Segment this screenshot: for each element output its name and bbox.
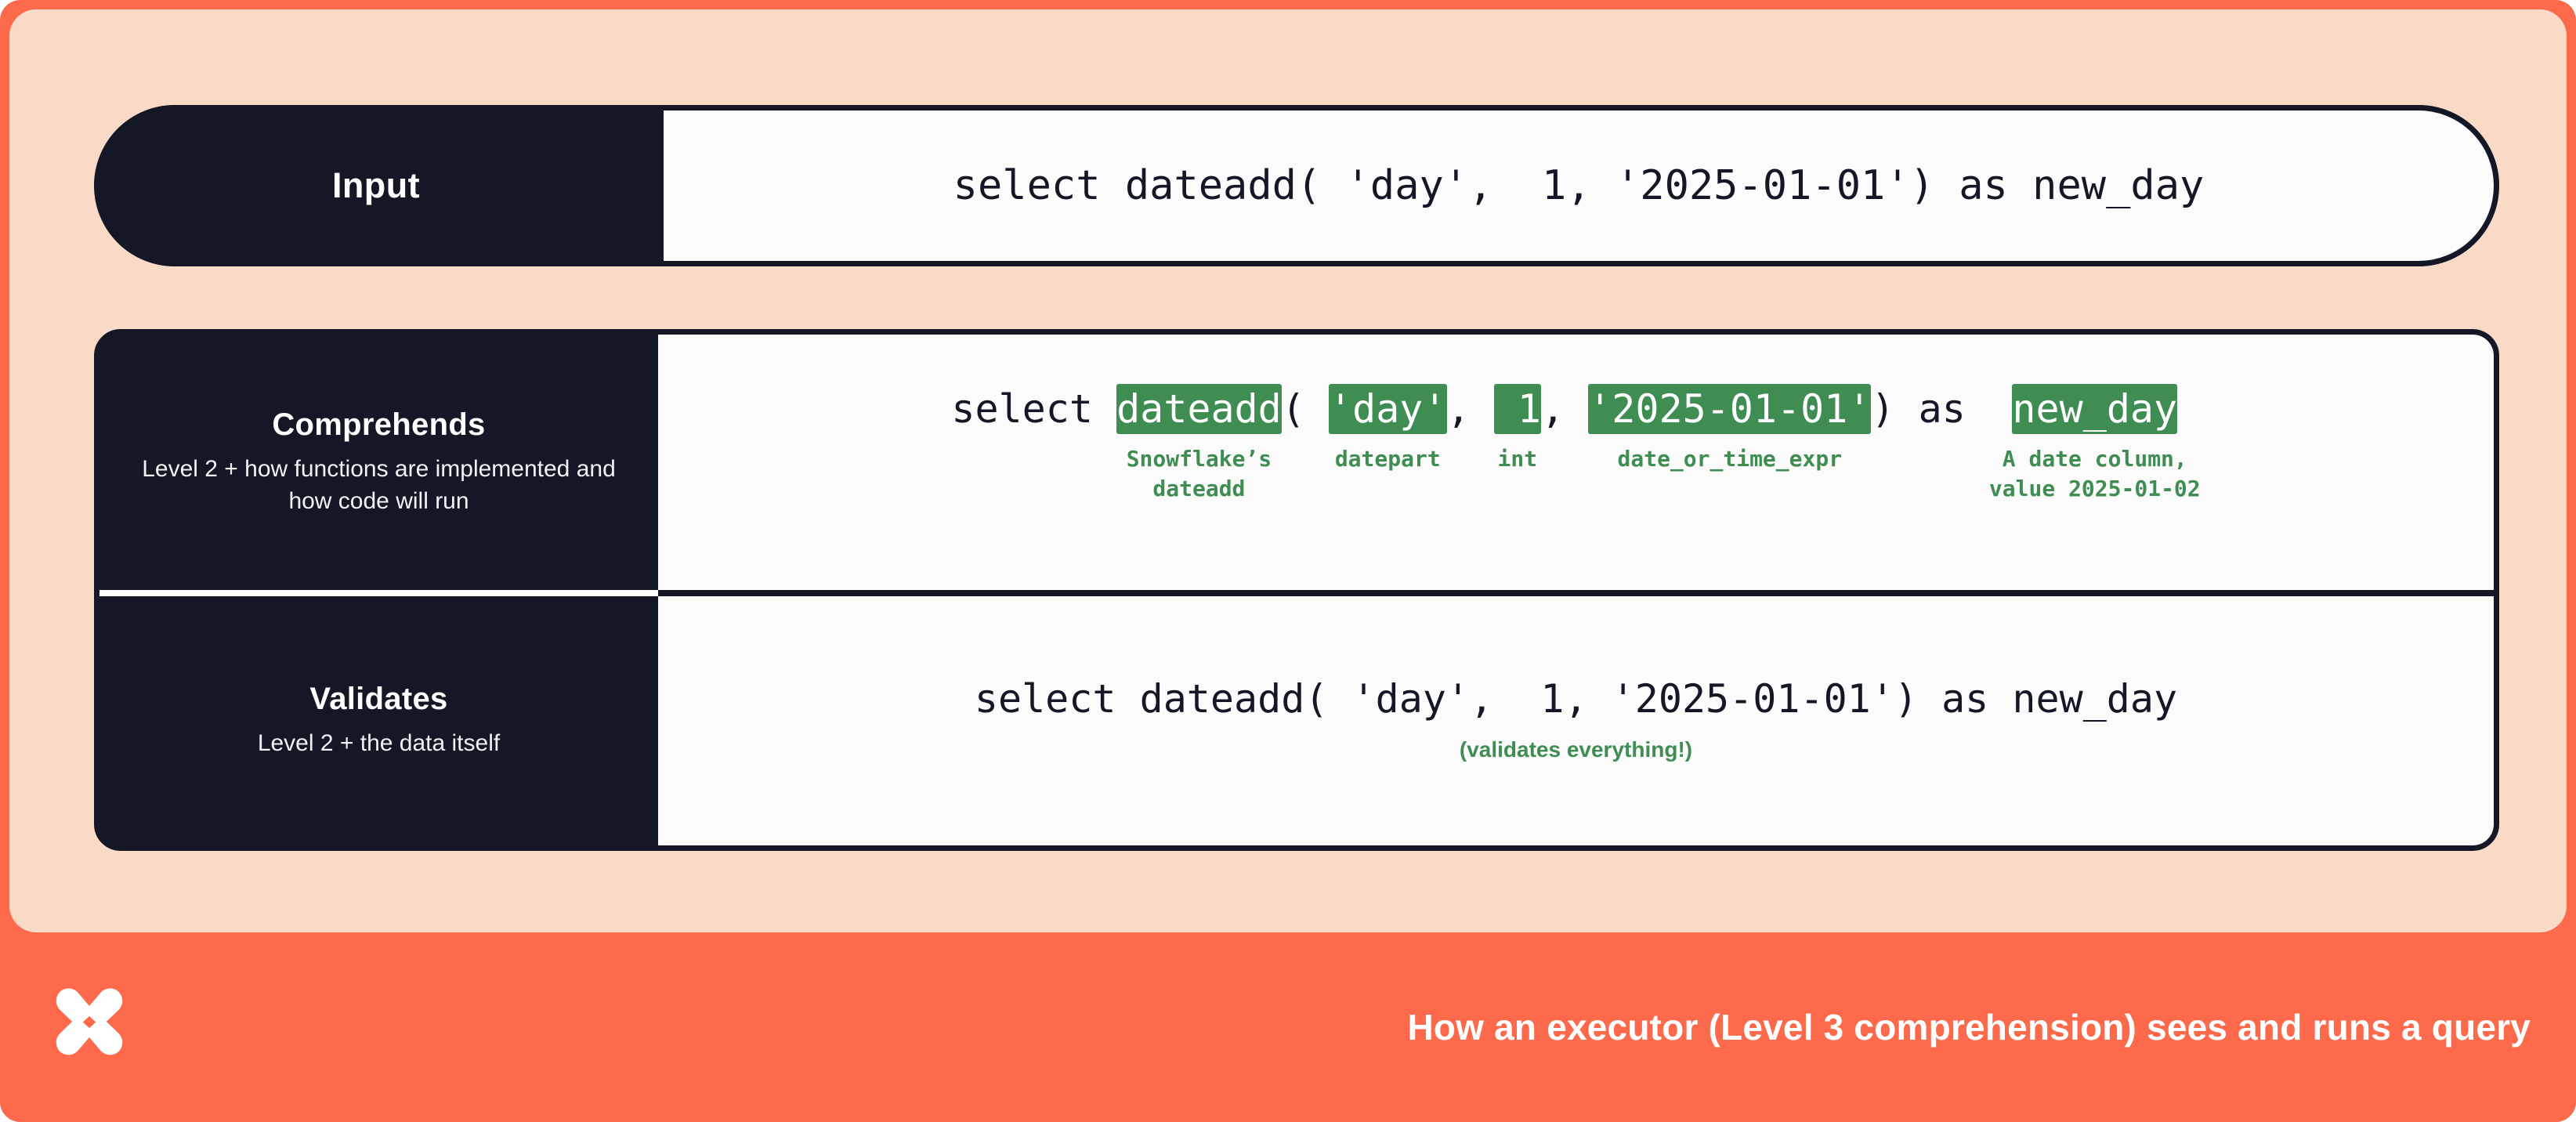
validates-row-subtitle: Level 2 + the data itself bbox=[258, 728, 500, 760]
code-token-text: dateadd bbox=[1116, 384, 1282, 434]
validates-note: (validates everything!) bbox=[1460, 737, 1692, 762]
comprehends-row-subtitle: Level 2 + how functions are implemented … bbox=[136, 454, 622, 517]
validates-code-text: select dateadd( 'day', 1, '2025-01-01') … bbox=[975, 679, 2177, 718]
annotated-code-line: select dateaddSnowflake’s dateadd( 'day'… bbox=[951, 384, 2200, 502]
footer-band: How an executor (Level 3 comprehension) … bbox=[0, 932, 2576, 1122]
input-row: Input select dateadd( 'day', 1, '2025-01… bbox=[94, 105, 2499, 266]
code-token-annotation: Snowflake’s dateadd bbox=[1127, 444, 1272, 502]
code-token-annotation: datepart bbox=[1335, 444, 1441, 473]
comprehends-row: Comprehends Level 2 + how functions are … bbox=[99, 335, 2494, 590]
comprehends-row-title: Comprehends bbox=[272, 407, 485, 443]
code-token: select bbox=[951, 384, 1116, 434]
code-token-text: new_day bbox=[2012, 384, 2177, 434]
code-token-text: ) as bbox=[1871, 384, 1989, 434]
code-token: , bbox=[1541, 384, 1588, 434]
code-token-text: 'day' bbox=[1329, 384, 1447, 434]
validates-row: Validates Level 2 + the data itself sele… bbox=[99, 596, 2494, 845]
input-row-title: Input bbox=[332, 165, 420, 206]
code-token-annotation: A date column, value 2025-01-02 bbox=[1989, 444, 2201, 502]
divider-right-segment bbox=[658, 590, 2494, 596]
comprehends-code-pane: select dateaddSnowflake’s dateadd( 'day'… bbox=[658, 335, 2494, 590]
x-star-logo-icon bbox=[43, 981, 136, 1073]
code-token-highlighted: dateaddSnowflake’s dateadd bbox=[1116, 384, 1282, 502]
code-token-annotation: int bbox=[1498, 444, 1538, 473]
code-token: , bbox=[1447, 384, 1494, 434]
code-token-highlighted: 'day'datepart bbox=[1329, 384, 1447, 473]
content-card: Input select dateadd( 'day', 1, '2025-01… bbox=[9, 9, 2567, 932]
input-code-text: select dateadd( 'day', 1, '2025-01-01') … bbox=[953, 165, 2205, 206]
code-token-text: , bbox=[1541, 384, 1588, 434]
code-token-text: select bbox=[951, 384, 1116, 434]
divider-left-segment bbox=[99, 590, 658, 596]
code-token-annotation: date_or_time_expr bbox=[1618, 444, 1843, 473]
validates-label-pane: Validates Level 2 + the data itself bbox=[99, 596, 658, 845]
code-token-text: 1 bbox=[1494, 384, 1541, 434]
code-token-highlighted: '2025-01-01'date_or_time_expr bbox=[1588, 384, 1871, 473]
comprehends-label-pane: Comprehends Level 2 + how functions are … bbox=[99, 335, 658, 590]
code-token-highlighted: 1int bbox=[1494, 384, 1541, 473]
footer-caption: How an executor (Level 3 comprehension) … bbox=[1407, 1006, 2531, 1048]
levels-stack: Comprehends Level 2 + how functions are … bbox=[94, 329, 2499, 851]
row-divider bbox=[99, 590, 2494, 596]
validates-row-title: Validates bbox=[309, 682, 447, 717]
code-token-text: , bbox=[1447, 384, 1494, 434]
code-token-highlighted: new_dayA date column, value 2025-01-02 bbox=[1989, 384, 2201, 502]
input-code-pane: select dateadd( 'day', 1, '2025-01-01') … bbox=[658, 105, 2499, 266]
poster-frame: Input select dateadd( 'day', 1, '2025-01… bbox=[0, 0, 2576, 1122]
input-label-pane: Input bbox=[94, 105, 658, 266]
code-token: ) as bbox=[1871, 384, 1989, 434]
code-token-text: ( bbox=[1282, 384, 1329, 434]
code-token: ( bbox=[1282, 384, 1329, 434]
code-token-text: '2025-01-01' bbox=[1588, 384, 1871, 434]
validates-code-pane: select dateadd( 'day', 1, '2025-01-01') … bbox=[658, 596, 2494, 845]
